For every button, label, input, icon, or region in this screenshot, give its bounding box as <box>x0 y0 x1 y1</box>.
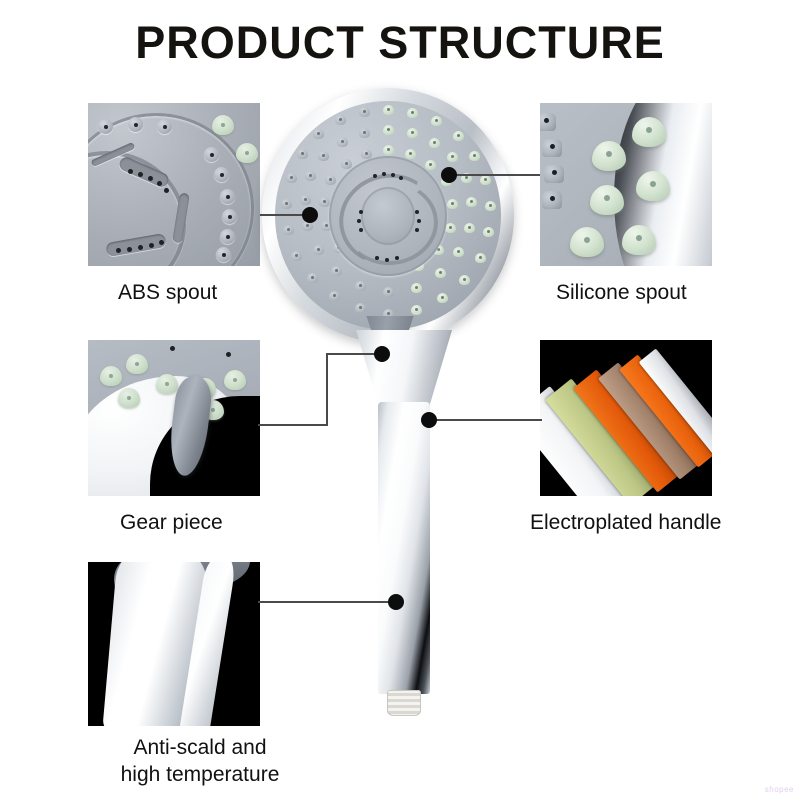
abs-stud <box>128 117 143 132</box>
callout-dot-silicone-spout[interactable] <box>441 167 457 183</box>
page-title: PRODUCT STRUCTURE <box>0 18 800 68</box>
infographic-page: PRODUCT STRUCTURE <box>0 0 800 800</box>
silicone-nozzle <box>622 225 656 255</box>
abs-stud <box>98 119 113 134</box>
label-gear-piece: Gear piece <box>120 510 223 537</box>
abs-stud <box>216 247 231 262</box>
silicone-nozzle <box>592 141 626 171</box>
thumbnail-abs-spout[interactable] <box>88 103 260 266</box>
abs-stud <box>204 147 219 162</box>
silicone-nozzle <box>636 171 670 201</box>
leader-anti-scald <box>258 601 394 603</box>
label-electroplated-handle: Electroplated handle <box>530 510 721 537</box>
gear-lever-macro <box>88 340 260 496</box>
abs-stud <box>214 167 229 182</box>
abs-spout-macro <box>88 103 260 266</box>
silicone-stud <box>212 115 234 135</box>
callout-dot-anti-scald[interactable] <box>388 594 404 610</box>
thumbnail-anti-scald[interactable] <box>88 562 260 726</box>
label-anti-scald: Anti-scald and high temperature <box>100 735 300 789</box>
silicone-nozzle <box>100 366 122 386</box>
silicone-nozzles-macro <box>540 103 712 266</box>
abs-stud <box>222 209 237 224</box>
silicone-nozzle <box>156 374 178 394</box>
leader-gear-piece-lower <box>258 424 328 426</box>
silicone-stud <box>236 143 258 163</box>
leader-gear-piece-riser <box>326 353 328 426</box>
handle-neck-macro <box>88 562 260 726</box>
abs-stud <box>544 165 564 183</box>
leader-silicone-spout <box>452 174 540 176</box>
label-silicone-spout: Silicone spout <box>556 280 687 307</box>
handle-barrel <box>378 402 430 694</box>
silicone-nozzle <box>570 227 604 257</box>
callout-dot-abs-spout[interactable] <box>302 207 318 223</box>
thumbnail-electroplated-handle[interactable] <box>540 340 712 496</box>
abs-stud <box>540 113 556 131</box>
watermark: shopee <box>765 785 794 794</box>
center-hub <box>329 156 447 276</box>
coating-layers-macro <box>540 340 712 496</box>
abs-stud <box>542 139 562 157</box>
silicone-nozzle <box>590 185 624 215</box>
abs-stud <box>220 229 235 244</box>
abs-stud <box>157 119 172 134</box>
callout-dot-gear-piece[interactable] <box>374 346 390 362</box>
hose-connector <box>387 690 421 716</box>
abs-stud <box>542 191 562 209</box>
silicone-nozzle <box>118 388 140 408</box>
callout-dot-electroplated-handle[interactable] <box>421 412 437 428</box>
silicone-nozzle <box>224 370 246 390</box>
silicone-nozzle <box>632 117 666 147</box>
abs-stud <box>220 189 235 204</box>
label-abs-spout: ABS spout <box>118 280 217 307</box>
product-handle[interactable] <box>378 330 430 702</box>
silicone-nozzle <box>126 354 148 374</box>
thumbnail-gear-piece[interactable] <box>88 340 260 496</box>
thumbnail-silicone-spout[interactable] <box>540 103 712 266</box>
leader-electroplated-handle <box>432 419 542 421</box>
